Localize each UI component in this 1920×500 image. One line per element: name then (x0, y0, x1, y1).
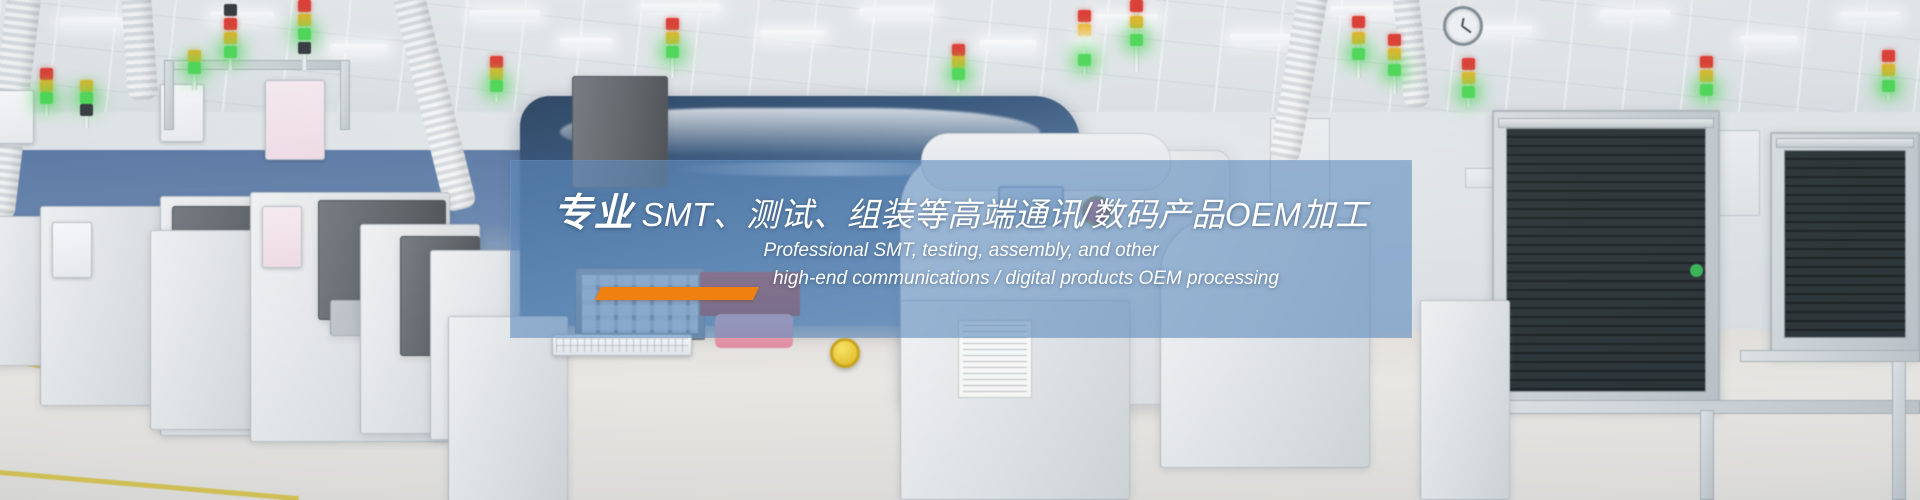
pcb-slots (1784, 150, 1906, 338)
ceiling-light (760, 30, 824, 39)
banner-headline: 专业SMT、测试、组装等高端通讯/数码产品OEM加工 (510, 182, 1412, 238)
signal-tower-light (224, 4, 237, 70)
machine-display (0, 90, 34, 144)
banner-copy-block: 专业SMT、测试、组装等高端通讯/数码产品OEM加工 Professional … (510, 160, 1412, 338)
rack-support-frame (1892, 352, 1906, 500)
banner-headline-lead: 专业 (553, 192, 633, 235)
rack-beam (1498, 118, 1714, 128)
emergency-stop-button (830, 338, 860, 368)
signal-tower-light (188, 50, 201, 90)
rack-support-frame (1740, 350, 1920, 362)
ceiling-light (640, 4, 720, 13)
pcb-slots (1506, 128, 1706, 392)
signal-tower-light (1700, 56, 1713, 104)
smt-machine (448, 316, 568, 500)
ceiling-light (1230, 34, 1290, 43)
signal-tower-light (1462, 58, 1475, 106)
smt-factory-hero-banner: 专业SMT、测试、组装等高端通讯/数码产品OEM加工 Professional … (0, 0, 1920, 500)
machine-display (262, 206, 302, 268)
signal-tower-light (80, 80, 93, 128)
signal-tower-light (298, 0, 311, 70)
signal-tower-light (1882, 50, 1895, 100)
ceiling-light (1840, 12, 1900, 21)
signal-tower-light (1352, 16, 1365, 78)
ceiling-light (210, 12, 274, 21)
rack-support-frame (1700, 410, 1714, 500)
ceiling-light (1740, 36, 1798, 45)
signal-tower-light (1388, 34, 1401, 94)
machine-display (52, 222, 92, 278)
ceiling-light (330, 44, 388, 53)
signal-tower-light (490, 56, 503, 102)
wall-clock-icon (1443, 6, 1483, 46)
machine-frame (340, 60, 350, 130)
signal-tower-light (666, 18, 679, 78)
smt-machine (1420, 300, 1510, 500)
signal-tower-light (1078, 10, 1091, 74)
pcb-magazine-rack (1492, 110, 1720, 410)
pcb-magazine-rack (1770, 132, 1920, 356)
ceiling-light (1090, 14, 1158, 23)
orange-accent-bar (595, 287, 759, 300)
ceiling-light (1600, 10, 1670, 19)
banner-headline-rest: SMT、测试、组装等高端通讯/数码产品OEM加工 (642, 196, 1369, 233)
ceiling-light (60, 18, 132, 27)
rack-beam (1776, 138, 1914, 148)
machine-display (265, 80, 325, 160)
rack-status-dot (1690, 264, 1703, 277)
signal-tower-light (40, 68, 53, 116)
signal-tower-light (1130, 0, 1143, 72)
ceiling-light (560, 38, 612, 47)
signal-tower-light (952, 44, 965, 92)
ceiling-light (470, 10, 540, 19)
ceiling-light (860, 8, 934, 17)
machine-frame (164, 60, 174, 130)
banner-subtitle-line-1: Professional SMT, testing, assembly, and… (510, 240, 1412, 262)
ceiling-light (980, 40, 1036, 49)
